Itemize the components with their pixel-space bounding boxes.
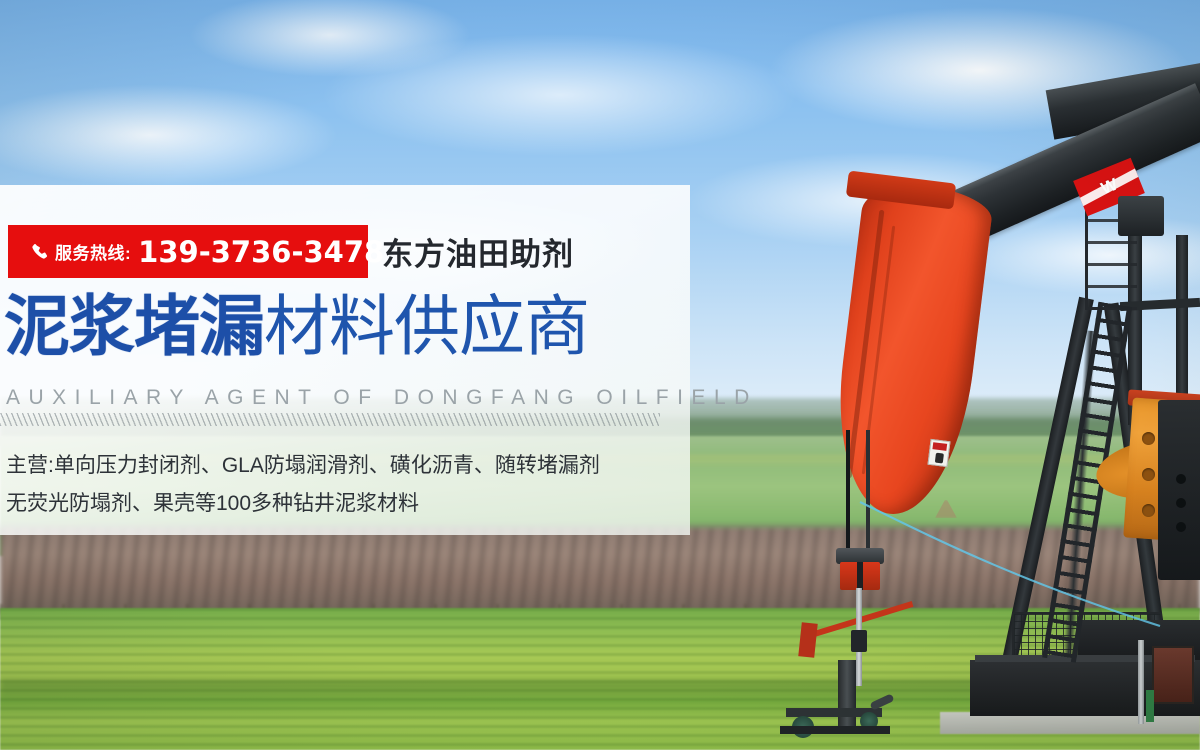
bridle-cable-left xyxy=(846,430,850,555)
hotline-number: 139-3736-3478 xyxy=(138,235,384,269)
brand-name: 东方油田助剂 xyxy=(382,225,574,278)
headline-rest: 材料供应商 xyxy=(264,289,589,363)
counterweight-hole xyxy=(1142,468,1155,481)
description-line-1: 主营:单向压力封闭剂、GLA防塌润滑剂、磺化沥青、随转堵漏剂 xyxy=(6,447,600,485)
rod-block xyxy=(851,630,867,652)
wellhead-assembly xyxy=(780,660,900,738)
gearbox xyxy=(1158,400,1200,580)
saddle-bearing xyxy=(1118,196,1164,236)
wellhead-base xyxy=(780,726,890,734)
wellhead-stack xyxy=(838,660,856,730)
ground-marker xyxy=(1146,690,1154,722)
counterweight-hole xyxy=(1142,432,1155,445)
manufacturer-logo-text: W xyxy=(1098,175,1119,199)
product-description: 主营:单向压力封闭剂、GLA防塌润滑剂、磺化沥青、随转堵漏剂 无荧光防塌剂、果壳… xyxy=(6,447,600,523)
hatched-divider xyxy=(0,413,660,426)
control-box xyxy=(1152,646,1194,704)
headline-emphasis: 泥浆堵漏 xyxy=(4,289,264,363)
text-overlay-panel: 服务热线: 139-3736-3478 东方油田助剂 泥浆堵漏材料供应商 AUX… xyxy=(0,185,690,535)
page-title: 泥浆堵漏材料供应商 xyxy=(4,286,589,366)
safety-sticker xyxy=(927,439,950,467)
valve-handwheel xyxy=(869,693,894,710)
promo-banner: W xyxy=(0,0,1200,750)
gearbox-port xyxy=(1176,498,1186,508)
english-subtitle: AUXILIARY AGENT OF DONGFANG OILFIELD xyxy=(6,386,758,410)
hotline-label: 服务热线: xyxy=(55,239,131,264)
gearbox-port xyxy=(1176,522,1186,532)
description-line-2: 无荧光防塌剂、果壳等100多种钻井泥浆材料 xyxy=(6,485,600,523)
horsehead-brace xyxy=(798,622,817,657)
control-post xyxy=(1138,640,1144,724)
horsehead xyxy=(845,185,975,515)
gearbox-port xyxy=(1176,474,1186,484)
hotline-badge[interactable]: 服务热线: 139-3736-3478 xyxy=(8,225,368,278)
guy-wire xyxy=(860,500,1160,630)
phone-icon xyxy=(30,242,50,262)
